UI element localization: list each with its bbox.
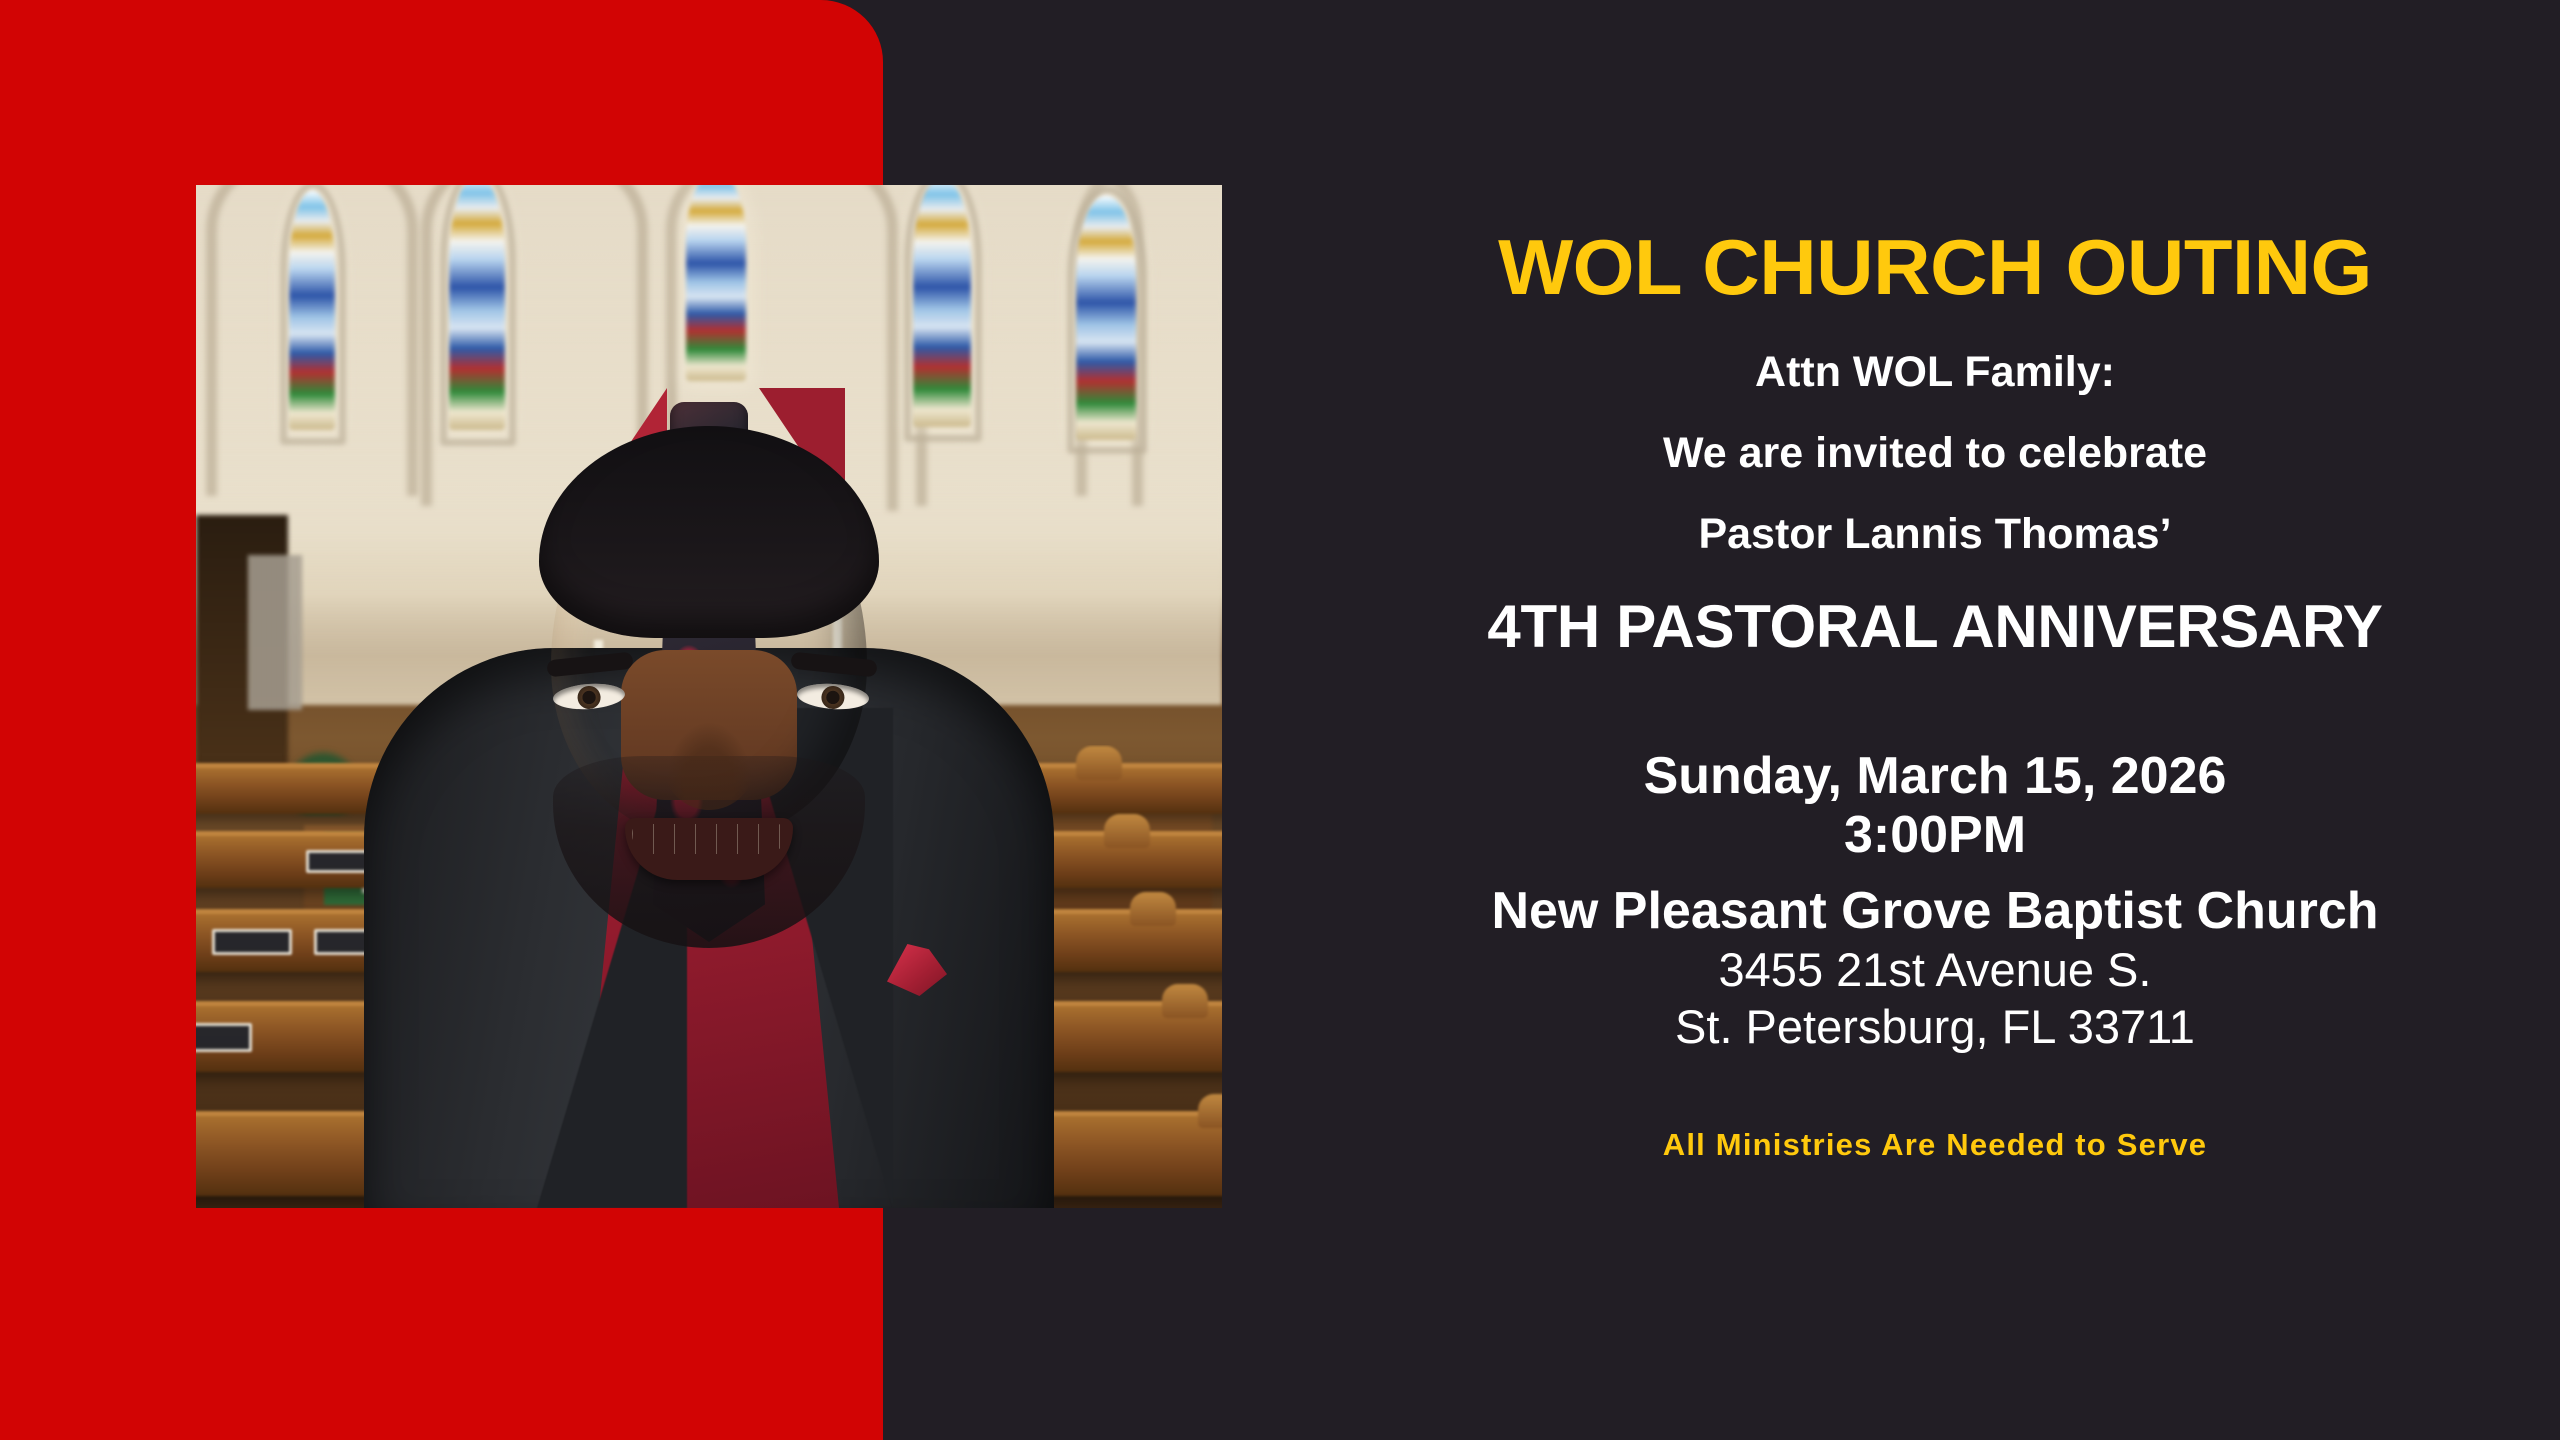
event-address-city: St. Petersburg, FL 33711 xyxy=(1330,998,2540,1055)
honoree-line: Pastor Lannis Thomas’ xyxy=(1330,475,2540,556)
smiling-mouth xyxy=(625,818,793,880)
nose xyxy=(663,718,755,810)
ministries-footnote: All Ministries Are Needed to Serve xyxy=(1330,1055,2540,1163)
photo-inner xyxy=(196,185,1222,1208)
hymnal-rack xyxy=(196,1023,252,1051)
pew-end-cap xyxy=(1162,984,1208,1018)
pew-end-cap xyxy=(1198,1094,1222,1128)
stained-glass-window xyxy=(686,185,746,381)
event-details-panel: WOL CHURCH OUTING Attn WOL Family: We ar… xyxy=(1330,0,2540,1440)
teeth xyxy=(632,824,786,854)
hymnal-rack xyxy=(212,929,292,955)
invitation-line: We are invited to celebrate xyxy=(1330,394,2540,475)
wall-grille xyxy=(248,555,302,710)
event-logistics: Sunday, March 15, 2026 3:00PM New Pleasa… xyxy=(1330,661,2540,1055)
pew-end-cap xyxy=(1130,892,1176,926)
occasion-heading: 4TH PASTORAL ANNIVERSARY xyxy=(1330,556,2540,661)
event-date: Sunday, March 15, 2026 xyxy=(1330,747,2540,806)
attention-line: Attn WOL Family: xyxy=(1330,313,2540,394)
iris xyxy=(577,685,602,710)
pastor-photo xyxy=(196,185,1222,1208)
iris xyxy=(821,685,846,710)
church-event-flyer: WOL CHURCH OUTING Attn WOL Family: We ar… xyxy=(0,0,2560,1440)
pew-end-cap xyxy=(1104,814,1150,848)
pastor-figure xyxy=(359,388,1059,1208)
pew-end-cap xyxy=(1076,746,1122,780)
stained-glass-window xyxy=(289,190,335,430)
event-time: 3:00PM xyxy=(1330,806,2540,865)
flyer-title: WOL CHURCH OUTING xyxy=(1318,0,2552,313)
event-venue: New Pleasant Grove Baptist Church xyxy=(1330,866,2540,941)
stained-glass-window xyxy=(1076,195,1136,440)
event-address-street: 3455 21st Avenue S. xyxy=(1330,941,2540,998)
